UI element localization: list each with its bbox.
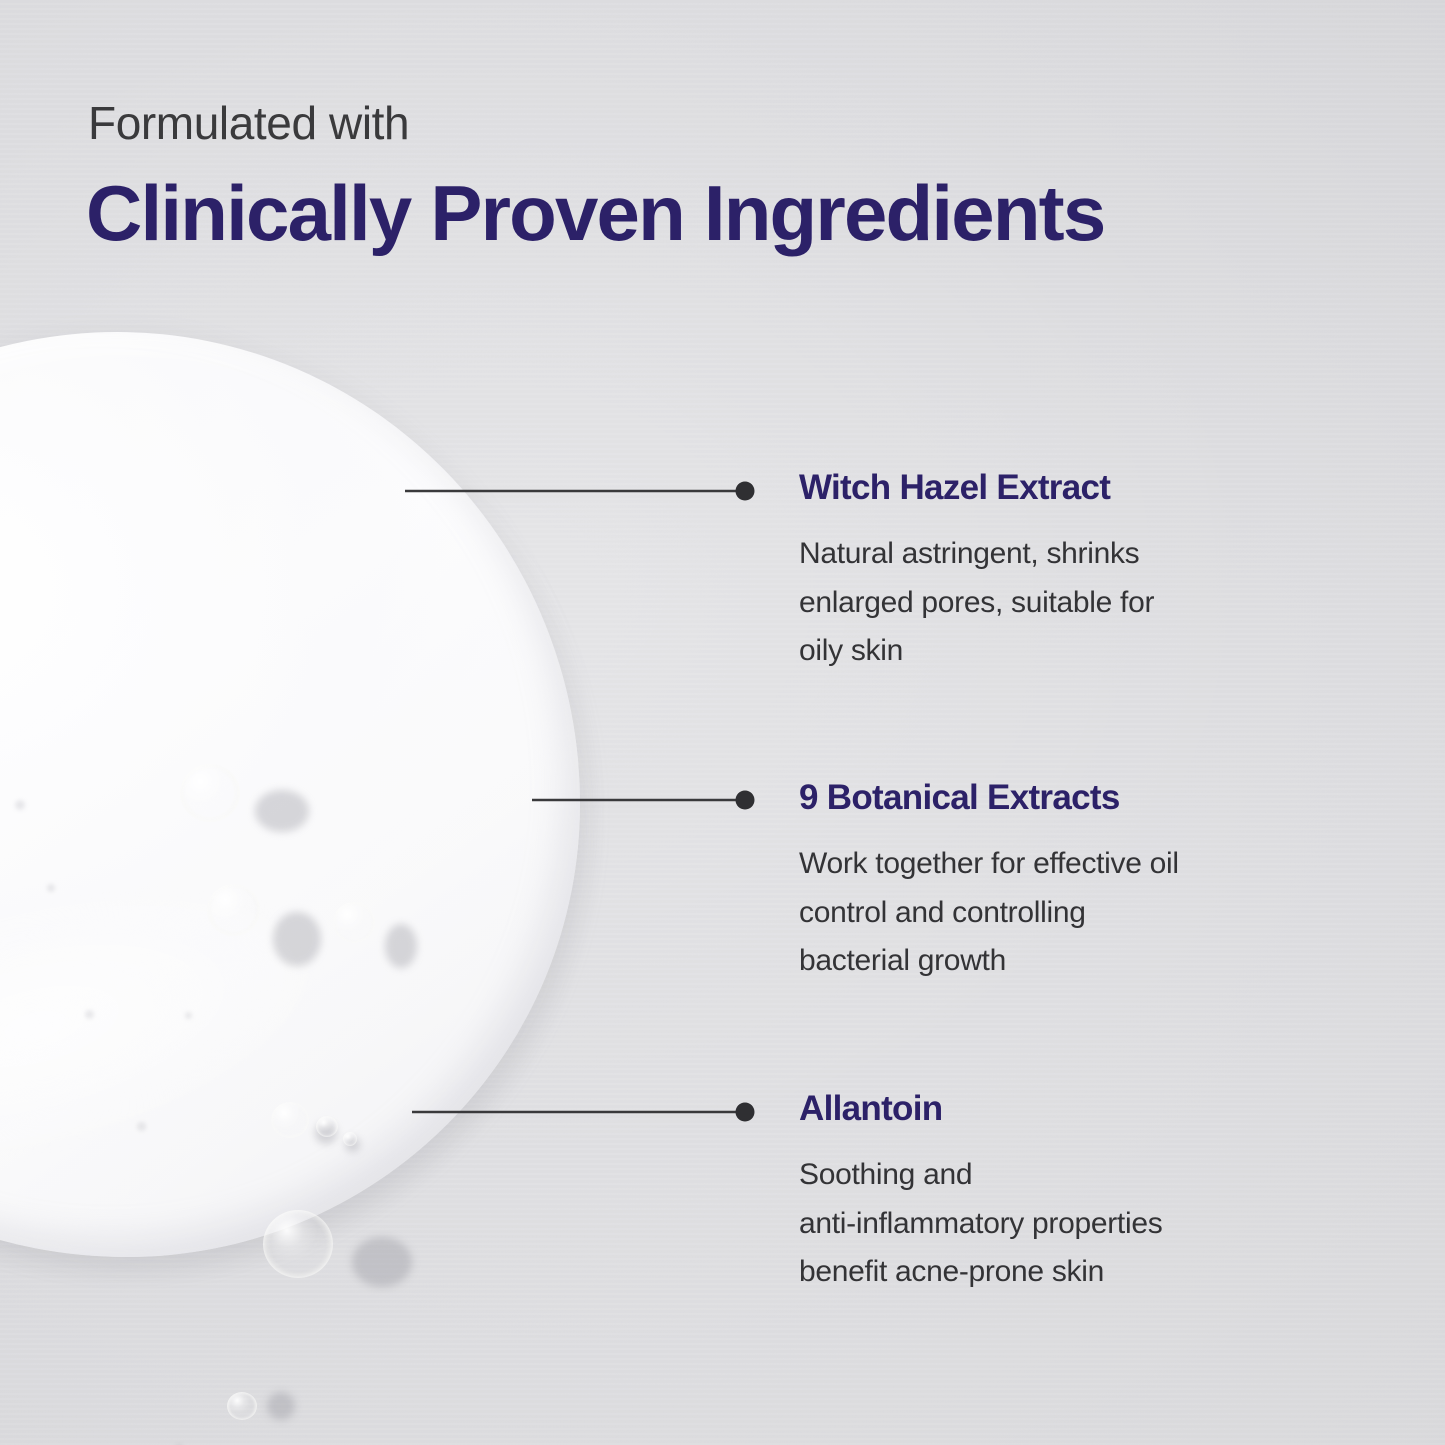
bubble-shadow <box>267 1392 295 1420</box>
gel-speck <box>85 1010 94 1019</box>
bubble-icon <box>180 764 240 822</box>
bubble-icon <box>227 1392 257 1420</box>
gel-speck <box>47 884 55 892</box>
ingredient-title: Witch Hazel Extract <box>799 468 1344 508</box>
ingredient-description: Natural astringent, shrinks enlarged por… <box>799 530 1344 676</box>
bubble-icon <box>316 1116 338 1137</box>
ingredient-item: Allantoin Soothing and anti-inflammatory… <box>799 1089 1344 1297</box>
ingredient-title: Allantoin <box>799 1089 1344 1129</box>
ingredient-item: 9 Botanical Extracts Work together for e… <box>799 778 1344 986</box>
ingredient-description: Work together for effective oil control … <box>799 840 1344 986</box>
gel-speck <box>185 1012 192 1019</box>
bubble-icon <box>263 1210 333 1278</box>
ingredient-title: 9 Botanical Extracts <box>799 778 1344 818</box>
bubble-icon <box>271 1102 309 1138</box>
bubble-shadow <box>352 1237 412 1287</box>
bubble-shadow <box>385 924 417 968</box>
connector-dot-2 <box>736 1103 755 1122</box>
page-title: Clinically Proven Ingredients <box>86 168 1104 259</box>
ingredient-description: Soothing and anti-inflammatory propertie… <box>799 1151 1344 1297</box>
connector-dot-1 <box>736 791 755 810</box>
bubble-shadow <box>273 912 321 966</box>
gel-droplet-image <box>0 332 580 1257</box>
bubble-icon <box>333 902 375 943</box>
page-kicker: Formulated with <box>88 96 409 150</box>
bubble-icon <box>343 1132 357 1146</box>
bubble-shadow <box>255 790 309 832</box>
connector-dot-0 <box>736 482 755 501</box>
gel-speck <box>15 800 25 810</box>
bubble-icon <box>207 884 260 936</box>
ingredient-item: Witch Hazel Extract Natural astringent, … <box>799 468 1344 676</box>
gel-speck <box>137 1122 146 1131</box>
